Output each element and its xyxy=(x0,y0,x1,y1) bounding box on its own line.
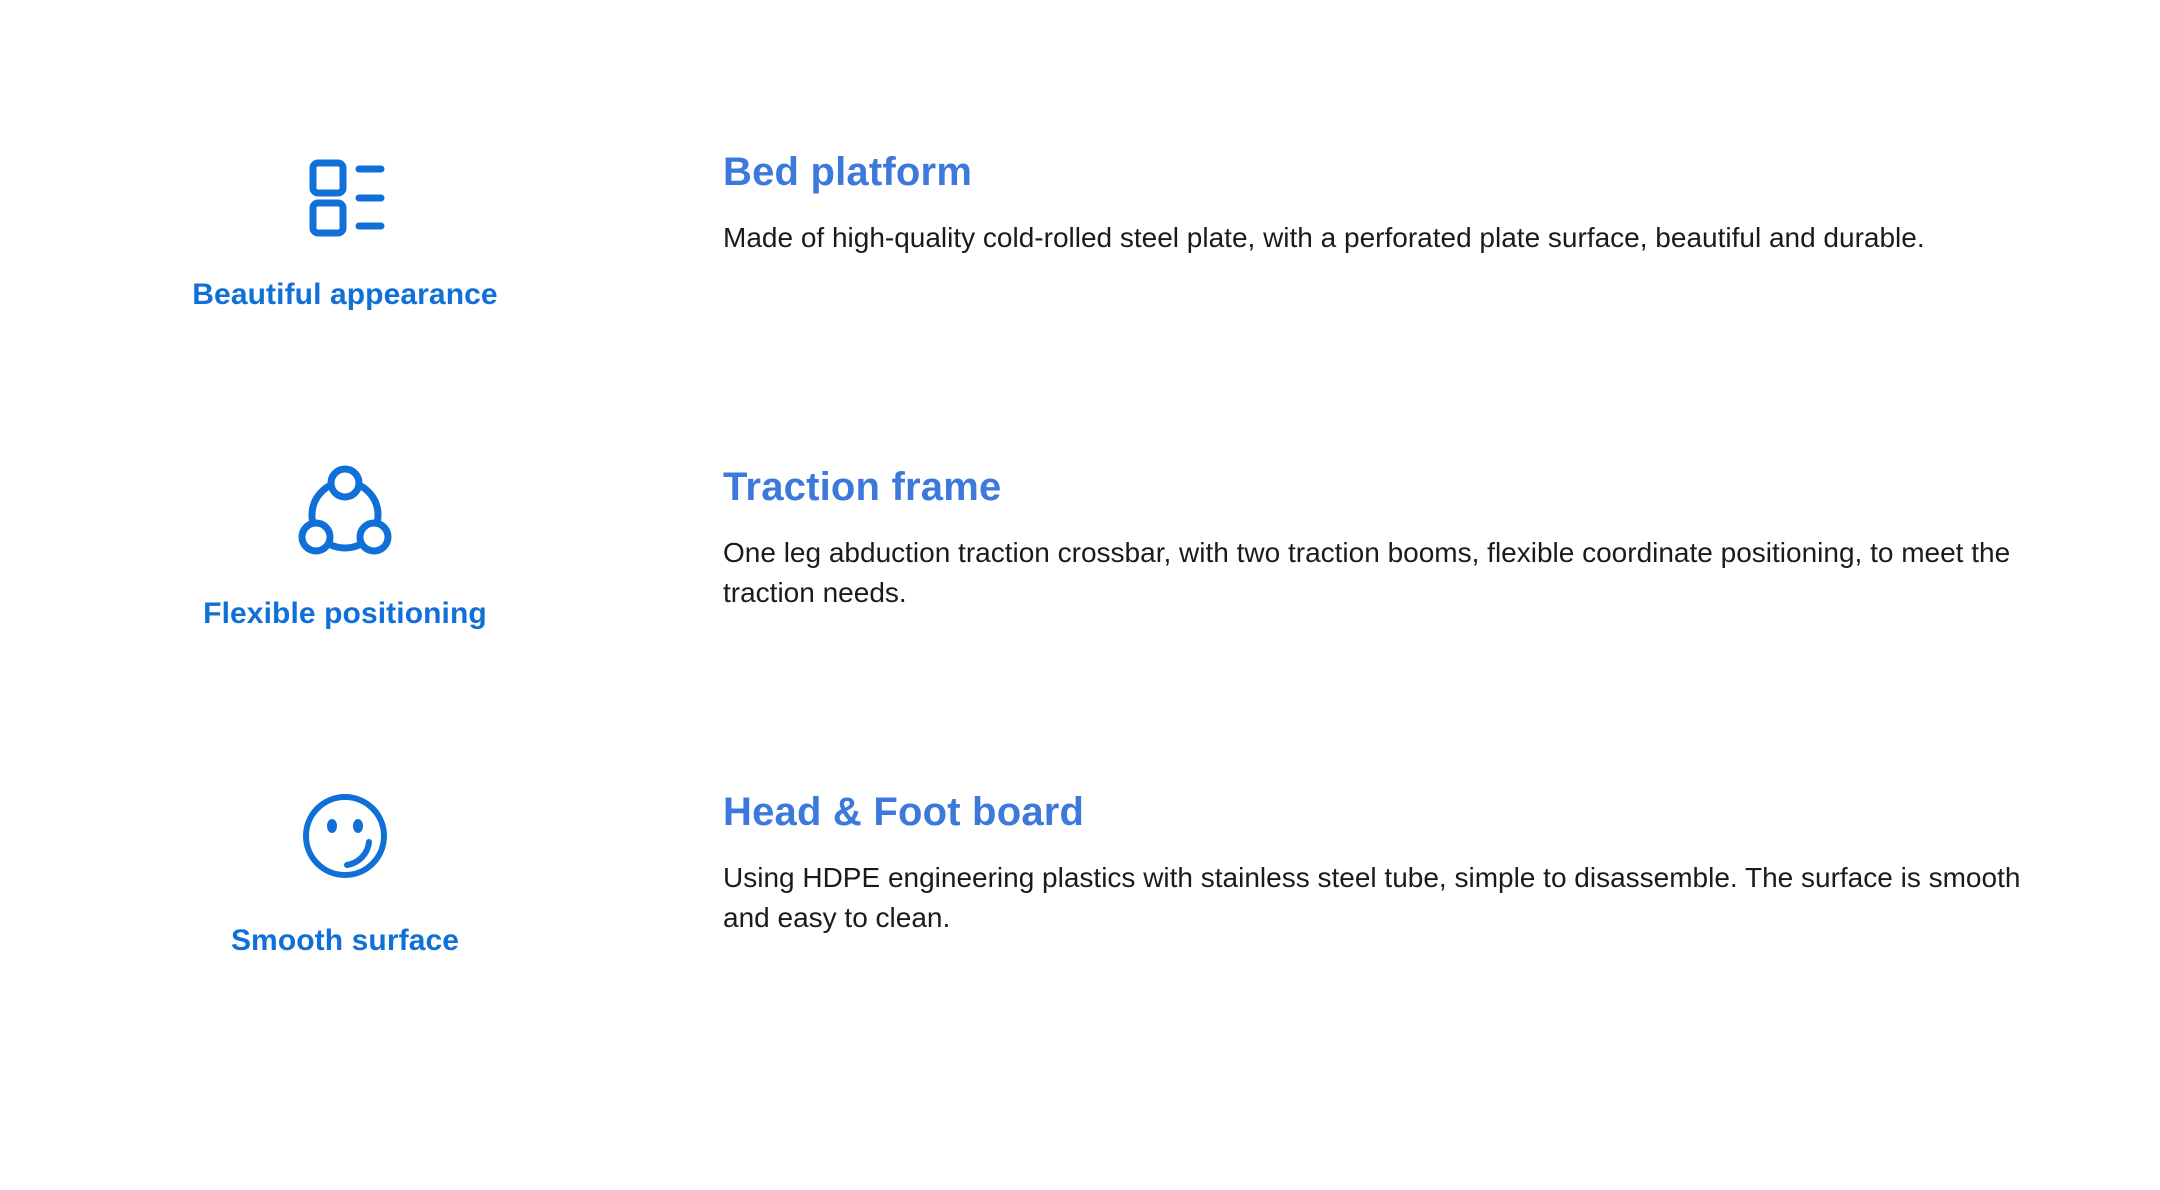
feature-text-column: Traction frame One leg abduction tractio… xyxy=(723,465,2043,613)
feature-row: Beautiful appearance Bed platform Made o… xyxy=(0,150,2160,380)
feature-title: Head & Foot board xyxy=(723,790,2043,834)
feature-text-column: Head & Foot board Using HDPE engineering… xyxy=(723,790,2043,938)
three-node-ring-icon xyxy=(130,465,560,575)
feature-text-column: Bed platform Made of high-quality cold-r… xyxy=(723,150,2043,258)
feature-description: Using HDPE engineering plastics with sta… xyxy=(723,834,2023,938)
feature-description: One leg abduction traction crossbar, wit… xyxy=(723,509,2023,613)
feature-caption: Smooth surface xyxy=(130,924,560,959)
feature-description: Made of high-quality cold-rolled steel p… xyxy=(723,194,1973,258)
list-blocks-icon xyxy=(130,150,560,260)
feature-caption: Flexible positioning xyxy=(130,597,560,632)
feature-list-page: Beautiful appearance Bed platform Made o… xyxy=(0,0,2160,1190)
feature-title: Bed platform xyxy=(723,150,2043,194)
feature-icon-column: Beautiful appearance xyxy=(130,150,560,313)
feature-caption: Beautiful appearance xyxy=(130,278,560,313)
smiley-face-icon xyxy=(130,790,560,900)
feature-title: Traction frame xyxy=(723,465,2043,509)
feature-row: Flexible positioning Traction frame One … xyxy=(0,465,2160,695)
feature-icon-column: Smooth surface xyxy=(130,790,560,959)
feature-row: Smooth surface Head & Foot board Using H… xyxy=(0,790,2160,1020)
feature-icon-column: Flexible positioning xyxy=(130,465,560,632)
